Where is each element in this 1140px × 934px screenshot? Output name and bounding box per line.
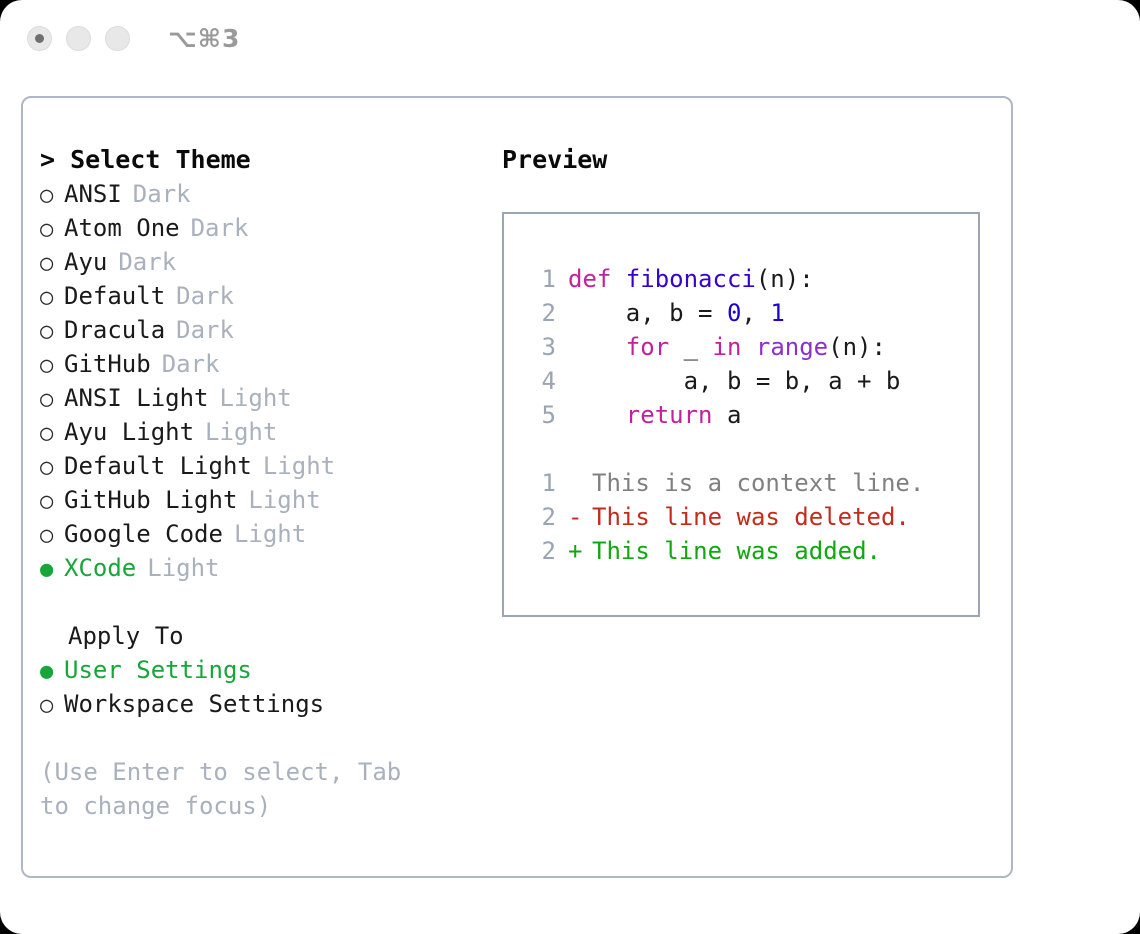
code-token-plain: a	[713, 401, 742, 429]
radio-unselected-icon: ○	[40, 519, 64, 553]
diff-line: 2+This line was added.	[522, 534, 924, 568]
theme-kind-badge: Light	[205, 415, 277, 449]
line-number: 3	[522, 330, 556, 364]
theme-list-item[interactable]: ○Ayu LightLight	[40, 415, 490, 449]
apply-to-option[interactable]: ○Workspace Settings	[40, 687, 490, 721]
radio-unselected-icon: ○	[40, 451, 64, 485]
close-icon	[35, 34, 44, 43]
theme-name: Ayu Light	[64, 415, 194, 449]
radio-unselected-icon: ○	[40, 417, 64, 451]
code-token-plain	[741, 333, 755, 361]
code-token-plain: a, b = b, a + b	[568, 367, 900, 395]
theme-name: GitHub Light	[64, 483, 237, 517]
code-token-plain: a, b =	[568, 299, 727, 327]
close-button[interactable]	[27, 26, 52, 51]
radio-unselected-icon: ○	[40, 349, 64, 383]
code-token-number: 0	[727, 299, 741, 327]
line-number: 2	[522, 534, 556, 568]
theme-list-item[interactable]: ○DraculaDark	[40, 313, 490, 347]
code-line: 5 return a	[522, 398, 900, 432]
theme-kind-badge: Dark	[118, 245, 176, 279]
theme-list-item[interactable]: ○Atom OneDark	[40, 211, 490, 245]
line-number: 1	[522, 262, 556, 296]
theme-kind-badge: Light	[263, 449, 335, 483]
code-token-keyword: return	[626, 401, 713, 429]
main-panel: > Select Theme ○ANSIDark○Atom OneDark○Ay…	[21, 96, 1013, 878]
theme-kind-badge: Dark	[133, 177, 191, 211]
line-number: 2	[522, 500, 556, 534]
code-token-plain: _	[669, 333, 712, 361]
radio-unselected-icon: ○	[40, 213, 64, 247]
diff-line-text: This is a context line.	[592, 466, 924, 500]
preview-heading: Preview	[502, 143, 997, 177]
code-sample: 1def fibonacci(n):2 a, b = 0, 13 for _ i…	[522, 262, 900, 432]
select-theme-heading: > Select Theme	[40, 143, 490, 177]
minimize-button[interactable]	[66, 26, 91, 51]
title-bar: ⌥⌘3	[0, 0, 1140, 78]
app-window: ⌥⌘3 > Select Theme ○ANSIDark○Atom OneDar…	[0, 0, 1140, 934]
radio-unselected-icon: ○	[40, 485, 64, 519]
code-token-function: fibonacci	[626, 265, 756, 293]
apply-to-option[interactable]: ●User Settings	[40, 653, 490, 687]
code-line-text: a, b = b, a + b	[568, 364, 900, 398]
code-line: 3 for _ in range(n):	[522, 330, 900, 364]
window-controls	[27, 26, 130, 51]
maximize-button[interactable]	[105, 26, 130, 51]
theme-kind-badge: Dark	[191, 211, 249, 245]
theme-list-item[interactable]: ○ANSIDark	[40, 177, 490, 211]
theme-list[interactable]: ○ANSIDark○Atom OneDark○AyuDark○DefaultDa…	[40, 177, 490, 585]
preview-box: 1def fibonacci(n):2 a, b = 0, 13 for _ i…	[502, 212, 980, 617]
code-line: 1def fibonacci(n):	[522, 262, 900, 296]
line-number: 2	[522, 296, 556, 330]
code-token-keyword: in	[713, 333, 742, 361]
theme-name: Google Code	[64, 517, 223, 551]
code-line-text: def fibonacci(n):	[568, 262, 814, 296]
code-token-number: 1	[770, 299, 784, 327]
code-line-text: for _ in range(n):	[568, 330, 886, 364]
code-token-plain	[568, 401, 626, 429]
radio-unselected-icon: ○	[40, 315, 64, 349]
diff-line: 1 This is a context line.	[522, 466, 924, 500]
apply-to-label: User Settings	[64, 653, 252, 687]
diff-marker	[568, 466, 592, 500]
code-token-keyword: def	[568, 265, 626, 293]
apply-to-title: Apply To	[40, 619, 490, 653]
diff-line-text: This line was deleted.	[592, 500, 910, 534]
code-token-plain: (n):	[828, 333, 886, 361]
line-number: 5	[522, 398, 556, 432]
diff-marker: -	[568, 500, 592, 534]
theme-list-item[interactable]: ○GitHub LightLight	[40, 483, 490, 517]
code-line-text: a, b = 0, 1	[568, 296, 785, 330]
preview-column: Preview 1def fibonacci(n):2 a, b = 0, 13…	[502, 143, 997, 617]
code-token-plain	[568, 333, 626, 361]
theme-name: ANSI	[64, 177, 122, 211]
theme-kind-badge: Light	[234, 517, 306, 551]
code-token-builtin: range	[756, 333, 828, 361]
diff-line: 2-This line was deleted.	[522, 500, 924, 534]
theme-name: Default	[64, 279, 165, 313]
theme-name: Atom One	[64, 211, 180, 245]
theme-list-item[interactable]: ○AyuDark	[40, 245, 490, 279]
theme-kind-badge: Dark	[176, 313, 234, 347]
radio-unselected-icon: ○	[40, 689, 64, 723]
code-token-plain: (n):	[756, 265, 814, 293]
theme-name: ANSI Light	[64, 381, 209, 415]
line-number: 4	[522, 364, 556, 398]
radio-unselected-icon: ○	[40, 179, 64, 213]
theme-name: Dracula	[64, 313, 165, 347]
theme-list-item[interactable]: ○DefaultDark	[40, 279, 490, 313]
theme-list-item[interactable]: ○Default LightLight	[40, 449, 490, 483]
theme-name: Ayu	[64, 245, 107, 279]
code-token-keyword: for	[626, 333, 669, 361]
theme-list-item[interactable]: ○GitHubDark	[40, 347, 490, 381]
theme-kind-badge: Light	[147, 551, 219, 585]
radio-unselected-icon: ○	[40, 383, 64, 417]
code-line-text: return a	[568, 398, 741, 432]
radio-selected-icon: ●	[40, 553, 64, 587]
theme-list-item[interactable]: ○ANSI LightLight	[40, 381, 490, 415]
window-shortcut-title: ⌥⌘3	[168, 22, 240, 56]
radio-unselected-icon: ○	[40, 281, 64, 315]
line-number: 1	[522, 466, 556, 500]
diff-line-text: This line was added.	[592, 534, 881, 568]
theme-list-item[interactable]: ○Google CodeLight	[40, 517, 490, 551]
code-token-plain: ,	[741, 299, 770, 327]
code-line: 2 a, b = 0, 1	[522, 296, 900, 330]
radio-selected-icon: ●	[40, 655, 64, 689]
theme-kind-badge: Dark	[162, 347, 220, 381]
theme-name: Default Light	[64, 449, 252, 483]
apply-to-options[interactable]: ●User Settings○Workspace Settings	[40, 653, 490, 721]
theme-kind-badge: Light	[248, 483, 320, 517]
theme-list-item[interactable]: ●XCodeLight	[40, 551, 490, 585]
theme-kind-badge: Dark	[176, 279, 234, 313]
keyboard-hint: (Use Enter to select, Tab to change focu…	[40, 755, 440, 823]
code-line: 4 a, b = b, a + b	[522, 364, 900, 398]
apply-to-label: Workspace Settings	[64, 687, 324, 721]
theme-selector-column: > Select Theme ○ANSIDark○Atom OneDark○Ay…	[40, 143, 490, 823]
theme-name: XCode	[64, 551, 136, 585]
diff-marker: +	[568, 534, 592, 568]
theme-name: GitHub	[64, 347, 151, 381]
radio-unselected-icon: ○	[40, 247, 64, 281]
apply-to-section: Apply To ●User Settings○Workspace Settin…	[40, 619, 490, 721]
diff-sample: 1 This is a context line.2-This line was…	[522, 466, 924, 568]
theme-kind-badge: Light	[220, 381, 292, 415]
